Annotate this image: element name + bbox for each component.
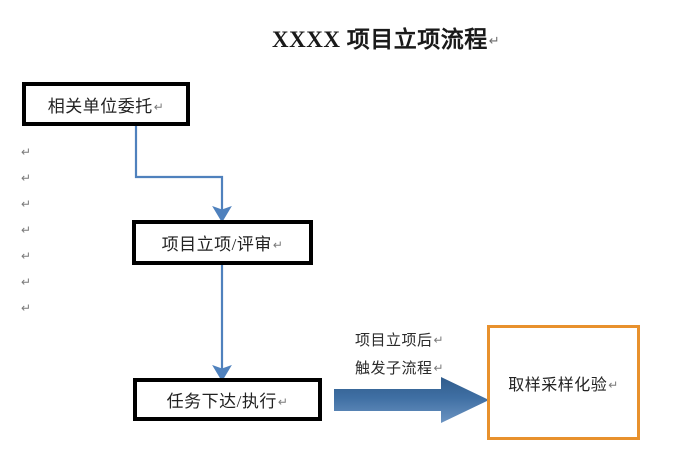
node-entrust[interactable]: 相关单位委托↵ [22, 82, 190, 126]
flowchart-canvas: XXXX 项目立项流程↵ ↵ ↵ ↵ ↵ ↵ ↵ ↵ [0, 0, 692, 463]
annotation-line-2: 触发子流程↵ [355, 355, 485, 383]
paragraph-mark-row: ↵ [20, 139, 31, 165]
paragraph-mark-icon: ↵ [154, 100, 165, 114]
node-approval-label: 项目立项/评审↵ [162, 230, 284, 255]
node-task-label: 任务下达/执行↵ [167, 387, 289, 412]
paragraph-mark-row: ↵ [20, 295, 31, 321]
paragraph-mark-row: ↵ [20, 217, 31, 243]
paragraph-mark-row: ↵ [20, 191, 31, 217]
page-title: XXXX 项目立项流程↵ [272, 20, 572, 54]
paragraph-mark-icon: ↵ [434, 333, 445, 347]
paragraph-mark-icon: ↵ [278, 395, 289, 409]
paragraph-mark-icon: ↵ [489, 33, 500, 48]
node-sampling-label: 取样采样化验↵ [508, 371, 619, 395]
paragraph-mark-icon: ↵ [21, 275, 31, 289]
paragraph-mark-icon: ↵ [434, 361, 445, 375]
paragraph-mark-row: ↵ [20, 165, 31, 191]
page-title-text: XXXX 项目立项流程 [272, 27, 488, 52]
node-task[interactable]: 任务下达/执行↵ [133, 378, 322, 421]
node-sampling[interactable]: 取样采样化验↵ [487, 325, 640, 440]
node-approval[interactable]: 项目立项/评审↵ [132, 220, 313, 265]
paragraph-mark-icon: ↵ [21, 145, 31, 159]
paragraph-mark-row: ↵ [20, 243, 31, 269]
paragraph-mark-icon: ↵ [21, 301, 31, 315]
margin-paragraph-marks: ↵ ↵ ↵ ↵ ↵ ↵ ↵ [20, 139, 31, 321]
connector-task-to-sampling [334, 377, 489, 423]
paragraph-mark-row: ↵ [20, 269, 31, 295]
node-entrust-label: 相关单位委托↵ [48, 92, 165, 117]
paragraph-mark-icon: ↵ [273, 238, 284, 252]
connector-entrust-to-approval [136, 126, 222, 213]
paragraph-mark-icon: ↵ [21, 223, 31, 237]
connector-annotation: 项目立项后↵ 触发子流程↵ [355, 327, 485, 383]
paragraph-mark-icon: ↵ [21, 197, 31, 211]
paragraph-mark-icon: ↵ [21, 249, 31, 263]
paragraph-mark-icon: ↵ [21, 171, 31, 185]
paragraph-mark-icon: ↵ [608, 378, 619, 392]
annotation-line-1: 项目立项后↵ [355, 327, 485, 355]
